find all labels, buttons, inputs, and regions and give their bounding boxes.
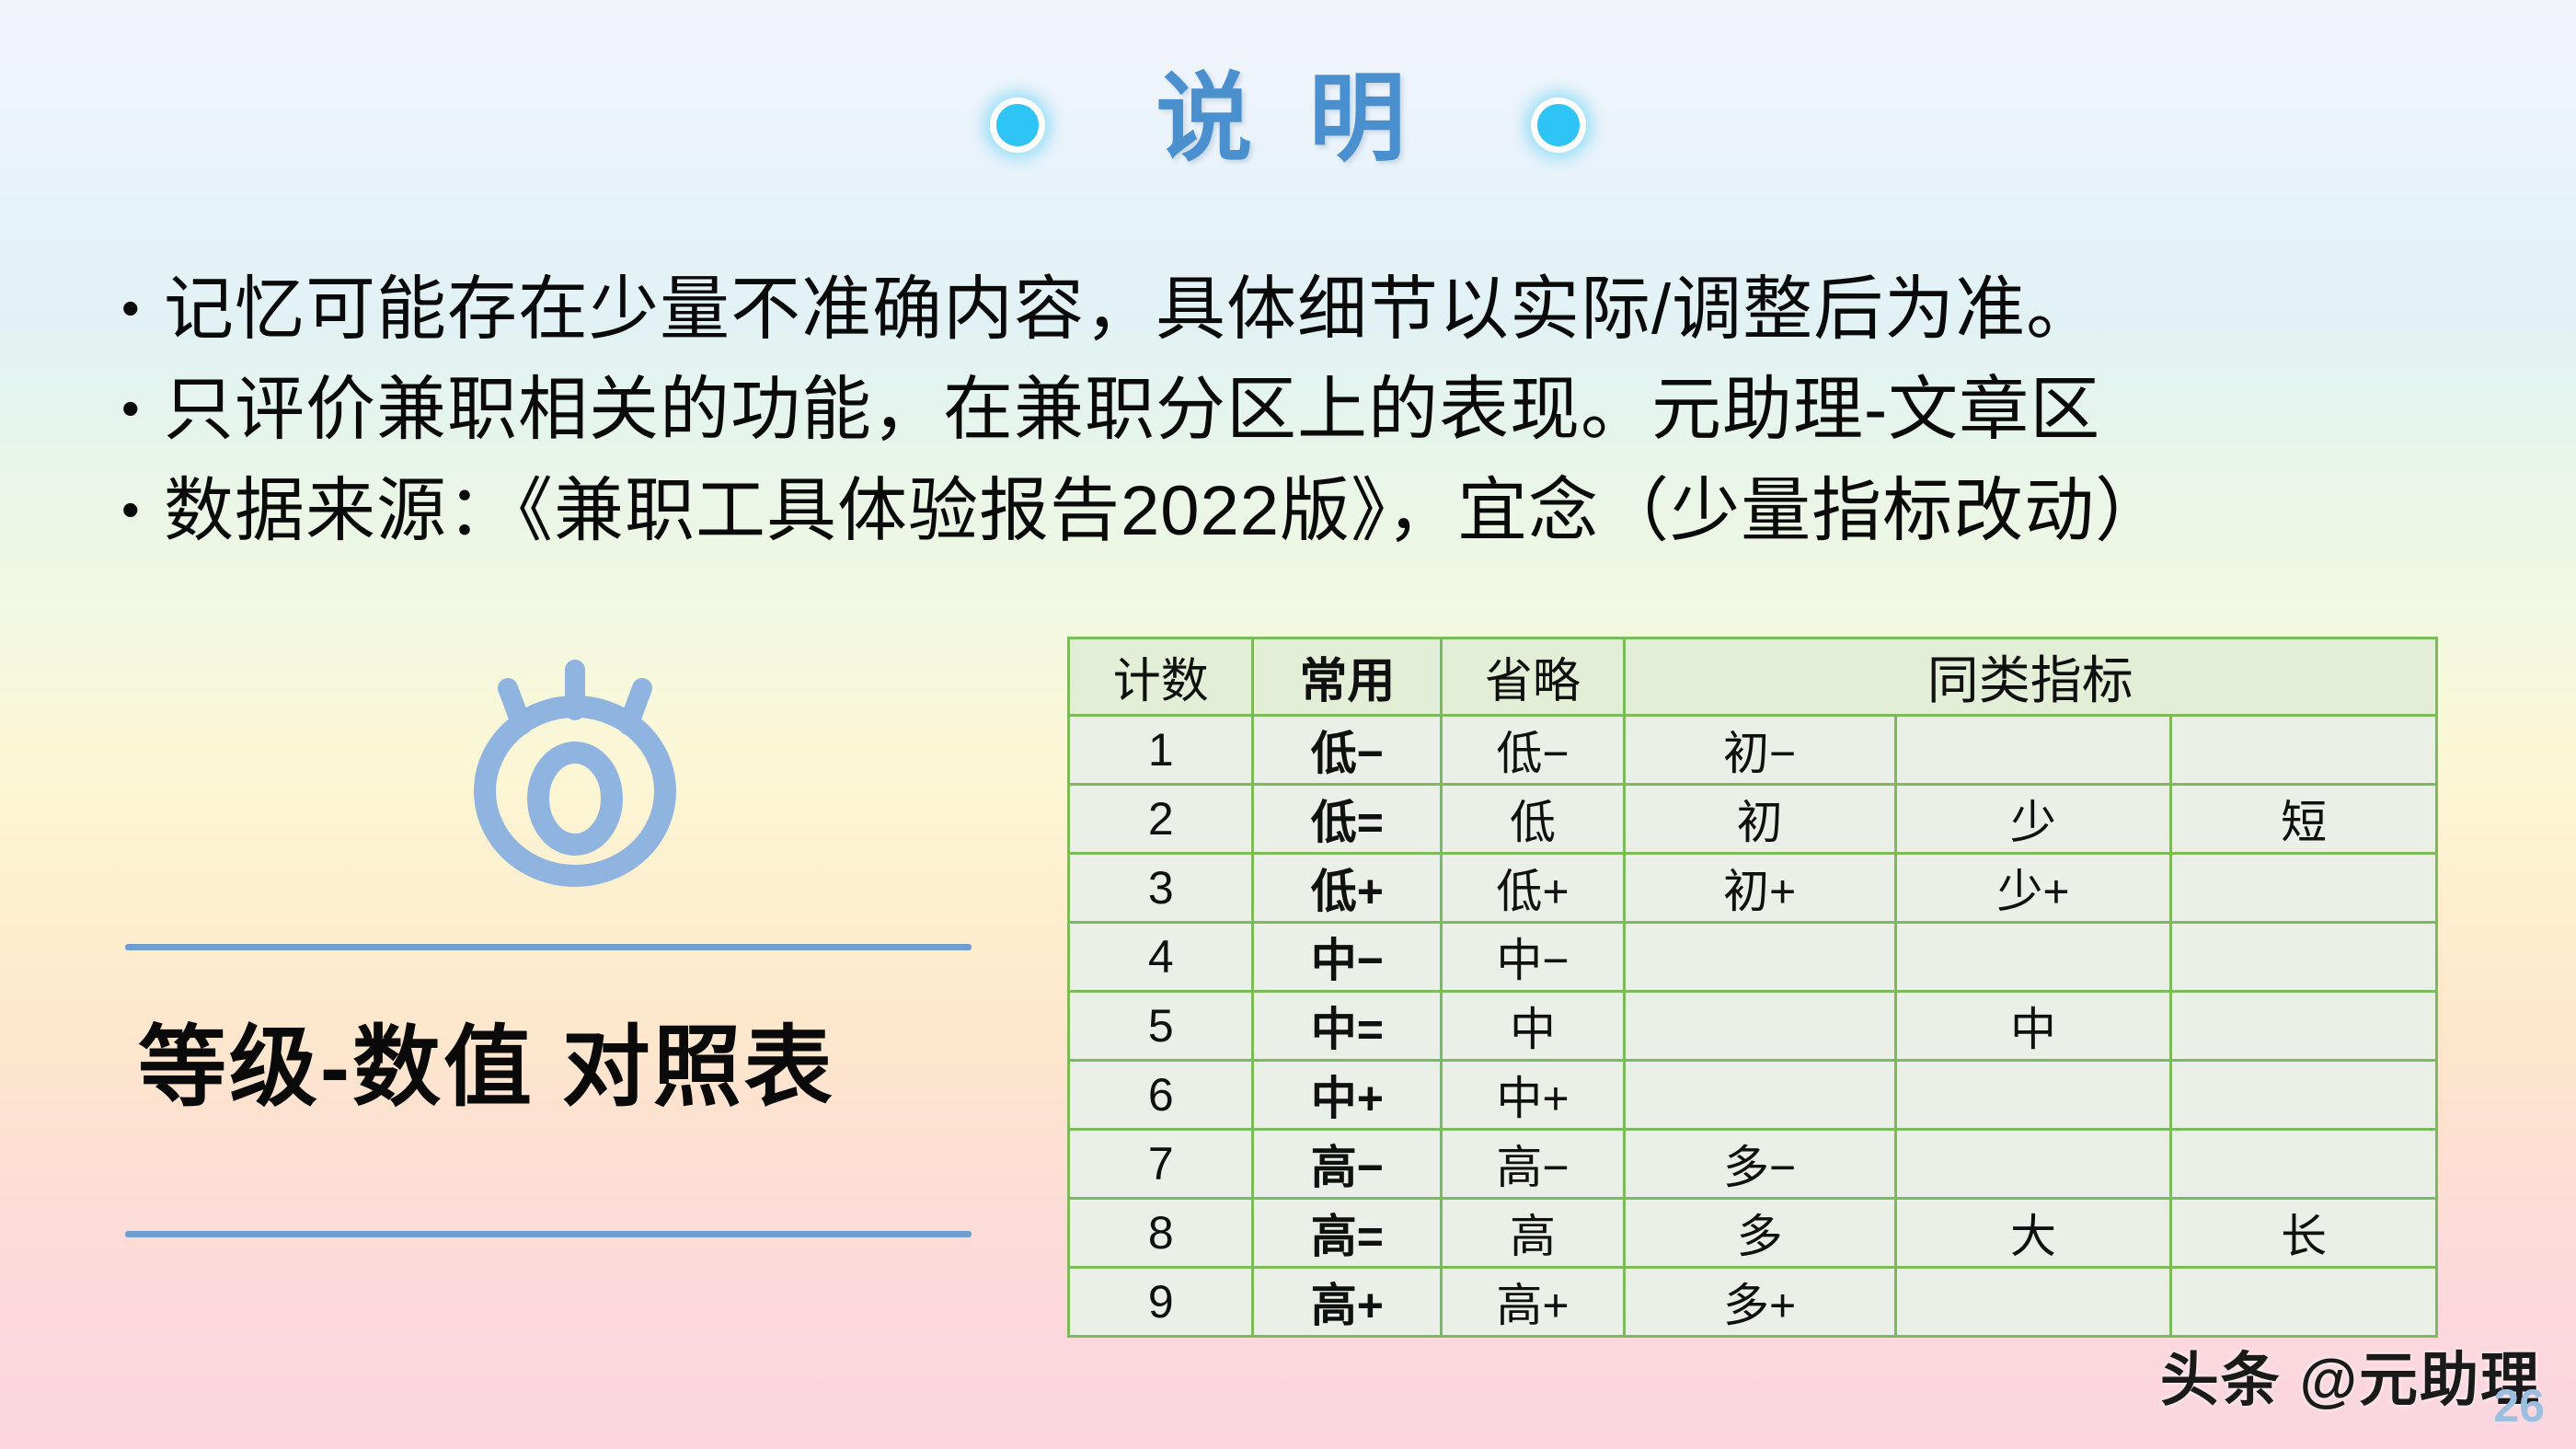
cell-alt3 [2171,854,2437,923]
cell-alt3 [2171,992,2437,1061]
cell-common: 低= [1253,785,1442,854]
cell-alt2 [1895,1268,2171,1337]
table-row: 7 高− 高− 多− [1069,1130,2437,1199]
cell-alt2: 中 [1895,992,2171,1061]
cell-alt2 [1895,923,2171,992]
cell-alt2: 少 [1895,785,2171,854]
cell-count: 1 [1069,716,1253,785]
table-header-row: 计数 常用 省略 同类指标 [1069,638,2437,716]
title-decor-dot-right-icon [1531,98,1586,153]
cell-count: 9 [1069,1268,1253,1337]
bullet-marker-icon: • [121,259,164,357]
cell-alt1 [1624,923,1895,992]
bullet-text: 记忆可能存在少量不准确内容，具体细节以实际/调整后为准。 [164,259,2097,360]
column-header-count: 计数 [1069,638,1253,716]
cell-alt3 [2171,1130,2437,1199]
cell-alt2: 大 [1895,1199,2171,1268]
column-header-alt-indicators: 同类指标 [1624,638,2436,716]
cell-alt1: 初+ [1624,854,1895,923]
table-row: 6 中+ 中+ [1069,1061,2437,1130]
table-row: 5 中= 中 中 [1069,992,2437,1061]
list-item: • 记忆可能存在少量不准确内容，具体细节以实际/调整后为准。 [121,259,2477,360]
cell-short: 低+ [1442,854,1624,923]
list-item: • 数据来源：《兼职工具体验报告2022版》，宜念（少量指标改动） [121,461,2477,561]
title-row: 说 明 [0,40,2576,197]
grade-value-table: 计数 常用 省略 同类指标 1 低− 低− 初− 2 低= [1067,637,2438,1338]
page-title: 说 明 [1156,71,1420,167]
cell-count: 8 [1069,1199,1253,1268]
cell-short: 低− [1442,716,1624,785]
cell-common: 低+ [1253,854,1442,923]
cell-alt2 [1895,716,2171,785]
table-row: 2 低= 低 初 少 短 [1069,785,2437,854]
watermark: 头条 @元助理 [2160,1333,2541,1418]
cell-short: 高− [1442,1130,1624,1199]
eye-icon [423,644,727,892]
cell-count: 3 [1069,854,1253,923]
table-row: 9 高+ 高+ 多+ [1069,1268,2437,1337]
divider-bottom [125,1231,972,1237]
cell-count: 6 [1069,1061,1253,1130]
page-number: 26 [2493,1379,2545,1432]
cell-alt1: 多+ [1624,1268,1895,1337]
list-item: • 只评价兼职相关的功能，在兼职分区上的表现。元助理-文章区 [121,360,2477,460]
bullet-marker-icon: • [121,461,164,558]
bullet-text: 数据来源：《兼职工具体验报告2022版》，宜念（少量指标改动） [164,461,2166,561]
cell-alt3 [2171,923,2437,992]
cell-short: 高 [1442,1199,1624,1268]
cell-short: 中+ [1442,1061,1624,1130]
bullet-text: 只评价兼职相关的功能，在兼职分区上的表现。元助理-文章区 [164,360,2100,460]
cell-common: 高+ [1253,1268,1442,1337]
section-label: 等级-数值 对照表 [138,995,835,1123]
cell-count: 4 [1069,923,1253,992]
title-decor-dot-left-icon [990,98,1045,153]
bullet-marker-icon: • [121,360,164,457]
cell-common: 中+ [1253,1061,1442,1130]
cell-alt1: 多 [1624,1199,1895,1268]
cell-short: 低 [1442,785,1624,854]
column-header-short: 省略 [1442,638,1624,716]
cell-alt1: 初− [1624,716,1895,785]
watermark-text: 头条 @元助理 [2160,1333,2541,1418]
table-row: 4 中− 中− [1069,923,2437,992]
cell-common: 高− [1253,1130,1442,1199]
cell-alt1: 多− [1624,1130,1895,1199]
cell-alt2: 少+ [1895,854,2171,923]
cell-alt1 [1624,1061,1895,1130]
cell-count: 2 [1069,785,1253,854]
cell-count: 7 [1069,1130,1253,1199]
column-header-common: 常用 [1253,638,1442,716]
cell-common: 中= [1253,992,1442,1061]
table-row: 1 低− 低− 初− [1069,716,2437,785]
table-row: 8 高= 高 多 大 长 [1069,1199,2437,1268]
cell-common: 中− [1253,923,1442,992]
cell-common: 低− [1253,716,1442,785]
bullet-list: • 记忆可能存在少量不准确内容，具体细节以实际/调整后为准。 • 只评价兼职相关… [121,259,2477,561]
cell-alt3 [2171,1268,2437,1337]
cell-alt3: 短 [2171,785,2437,854]
cell-common: 高= [1253,1199,1442,1268]
divider-top [125,944,972,950]
cell-alt3: 长 [2171,1199,2437,1268]
cell-alt3 [2171,1061,2437,1130]
cell-short: 中− [1442,923,1624,992]
cell-short: 中 [1442,992,1624,1061]
cell-alt1: 初 [1624,785,1895,854]
table-row: 3 低+ 低+ 初+ 少+ [1069,854,2437,923]
cell-alt2 [1895,1130,2171,1199]
left-panel: 等级-数值 对照表 [110,635,1040,1371]
slide-canvas: 说 明 • 记忆可能存在少量不准确内容，具体细节以实际/调整后为准。 • 只评价… [0,0,2576,1449]
cell-alt2 [1895,1061,2171,1130]
cell-alt3 [2171,716,2437,785]
cell-alt1 [1624,992,1895,1061]
cell-short: 高+ [1442,1268,1624,1337]
cell-count: 5 [1069,992,1253,1061]
